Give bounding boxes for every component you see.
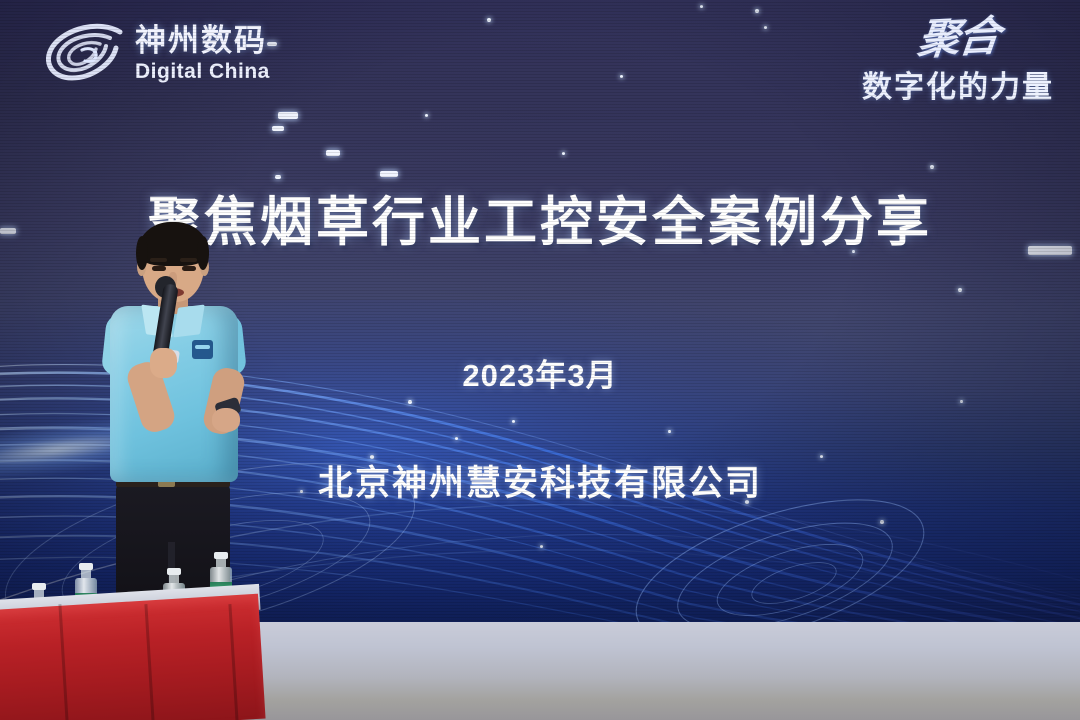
particle-dash bbox=[380, 171, 398, 177]
shirt-chest-logo bbox=[192, 340, 213, 359]
bottle-neck bbox=[169, 575, 179, 583]
particle-dash bbox=[272, 126, 284, 131]
particle-dot bbox=[764, 26, 767, 29]
particle-dot bbox=[668, 430, 671, 433]
particle-dot bbox=[880, 520, 884, 524]
logo-wordmark: 神州数码 Digital China bbox=[135, 25, 270, 82]
particle-dot bbox=[620, 75, 623, 78]
particle-dot bbox=[540, 545, 543, 548]
slogan-calligraphy: 聚合 bbox=[859, 13, 1057, 63]
logo-english-name: Digital China bbox=[135, 61, 270, 82]
particle-dash bbox=[275, 175, 281, 179]
speaker-right-hand bbox=[212, 408, 240, 432]
particle-dot bbox=[960, 400, 963, 403]
speaker-eye-right bbox=[182, 266, 196, 271]
bottle-cap bbox=[79, 563, 93, 570]
bottle-cap bbox=[32, 583, 46, 590]
speaker-figure bbox=[96, 222, 276, 622]
bottle-cap bbox=[167, 568, 181, 575]
speaker-eye-left bbox=[152, 266, 166, 271]
speaker-hair-side-left bbox=[136, 236, 148, 270]
bottle-cap bbox=[214, 552, 228, 559]
logo-chinese-name: 神州数码 bbox=[135, 25, 270, 56]
slogan-subtitle: 数字化的力量 bbox=[862, 62, 1054, 106]
speaker-hair-side-right bbox=[197, 236, 209, 270]
photo-canvas: 神州数码 Digital China 聚合 数字化的力量 聚焦烟草行业工控安全案… bbox=[0, 0, 1080, 720]
bottle-neck bbox=[216, 559, 226, 567]
particle-dash bbox=[326, 150, 340, 156]
particle-dot bbox=[512, 420, 515, 423]
particle-dot bbox=[958, 288, 962, 292]
particle-dot bbox=[930, 165, 934, 169]
shirt-collar-right bbox=[173, 305, 205, 338]
particle-dot bbox=[700, 5, 703, 8]
bottle-neck bbox=[81, 570, 91, 578]
particle-dash bbox=[278, 112, 298, 119]
particle-dot bbox=[425, 114, 428, 117]
speaker-eyebrow-left bbox=[150, 258, 167, 262]
speaker-eyebrow-right bbox=[180, 258, 197, 262]
swirl-galaxy-icon bbox=[42, 22, 126, 84]
particle-dot bbox=[755, 9, 759, 13]
speaker-left-hand bbox=[150, 348, 177, 378]
digital-china-logo: 神州数码 Digital China bbox=[42, 22, 270, 84]
particle-dot bbox=[487, 18, 491, 22]
particle-dot bbox=[408, 400, 412, 404]
particle-dot bbox=[455, 437, 458, 440]
red-table-skirt bbox=[0, 594, 266, 720]
particle-dot bbox=[562, 152, 565, 155]
event-slogan: 聚合 数字化的力量 bbox=[862, 18, 1054, 106]
